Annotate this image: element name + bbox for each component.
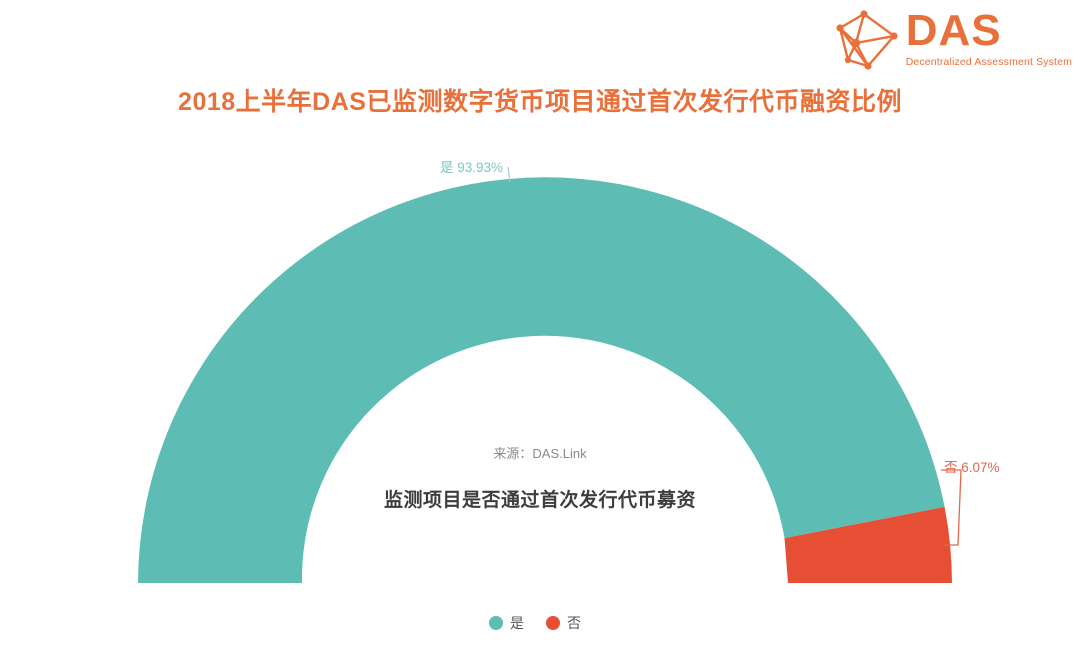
legend-label-yes: 是 xyxy=(510,613,524,633)
pie-slice-yes[interactable] xyxy=(138,177,945,583)
slice-label-yes: 是 93.93% xyxy=(440,156,503,176)
legend-label-no: 否 xyxy=(567,613,581,633)
legend-item-yes[interactable]: 是 xyxy=(489,613,524,633)
half-donut-gauge xyxy=(0,0,1080,654)
legend-dot-no xyxy=(546,616,560,630)
legend-item-no[interactable]: 否 xyxy=(546,613,581,633)
legend-dot-yes xyxy=(489,616,503,630)
chart-legend: 是 否 xyxy=(0,613,1080,633)
source-text: 来源：DAS.Link xyxy=(0,443,1080,462)
chart-area: 是 93.93% 否 6.07% 来源：DAS.Link 监测项目是否通过首次发… xyxy=(0,0,1080,654)
chart-subtitle: 监测项目是否通过首次发行代币募资 xyxy=(0,485,1080,512)
